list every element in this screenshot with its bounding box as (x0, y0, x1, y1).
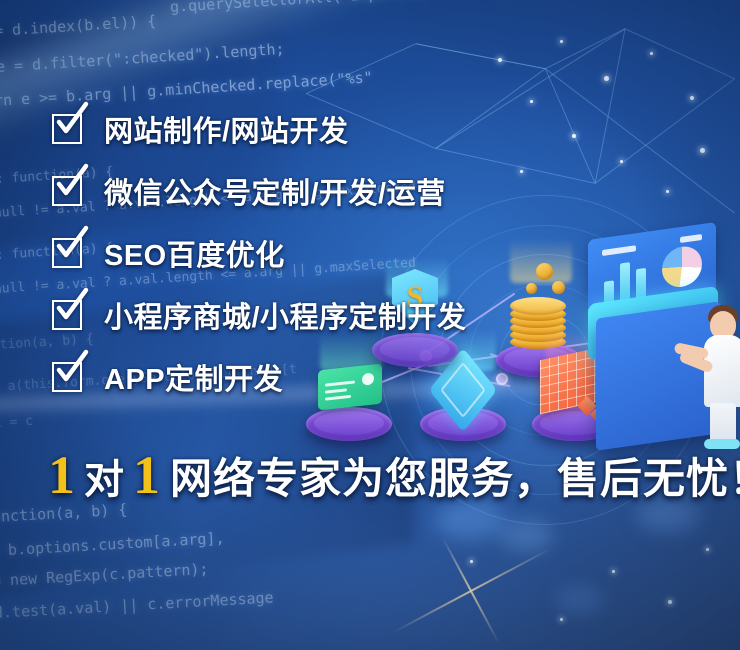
headline-middle-word: 对 (84, 460, 124, 500)
feature-label: 微信公众号定制/开发/运营 (104, 170, 446, 212)
checkbox-checked-icon[interactable] (52, 300, 82, 330)
leg (710, 403, 736, 443)
feature-item-website[interactable]: 网站制作/网站开发 (52, 98, 712, 160)
checkbox-checked-icon[interactable] (52, 362, 82, 392)
feature-label: 小程序商城/小程序定制开发 (104, 294, 467, 336)
feature-item-seo[interactable]: SEO百度优化 (52, 222, 712, 284)
feature-list: 网站制作/网站开发 微信公众号定制/开发/运营 SEO百度优化 (52, 98, 712, 408)
feature-item-app[interactable]: APP定制开发 (52, 346, 712, 408)
headline: 1 对 1 网络专家为您服务，售后无忧！ (48, 448, 740, 502)
checkbox-checked-icon[interactable] (52, 238, 82, 268)
promo-banner: g.querySelectorAll("input[type=checkbox]… (0, 0, 740, 650)
feature-item-miniapp[interactable]: 小程序商城/小程序定制开发 (52, 284, 712, 346)
feature-label: SEO百度优化 (104, 232, 285, 274)
checkbox-checked-icon[interactable] (52, 176, 82, 206)
headline-tail-text: 网络专家为您服务，售后无忧！ (170, 458, 740, 500)
feature-item-wechat[interactable]: 微信公众号定制/开发/运营 (52, 160, 712, 222)
headline-number-second: 1 (133, 448, 160, 502)
feature-label: 网站制作/网站开发 (104, 108, 349, 150)
headline-number-first: 1 (48, 448, 75, 502)
checkbox-checked-icon[interactable] (52, 114, 82, 144)
feature-label: APP定制开发 (104, 356, 283, 398)
